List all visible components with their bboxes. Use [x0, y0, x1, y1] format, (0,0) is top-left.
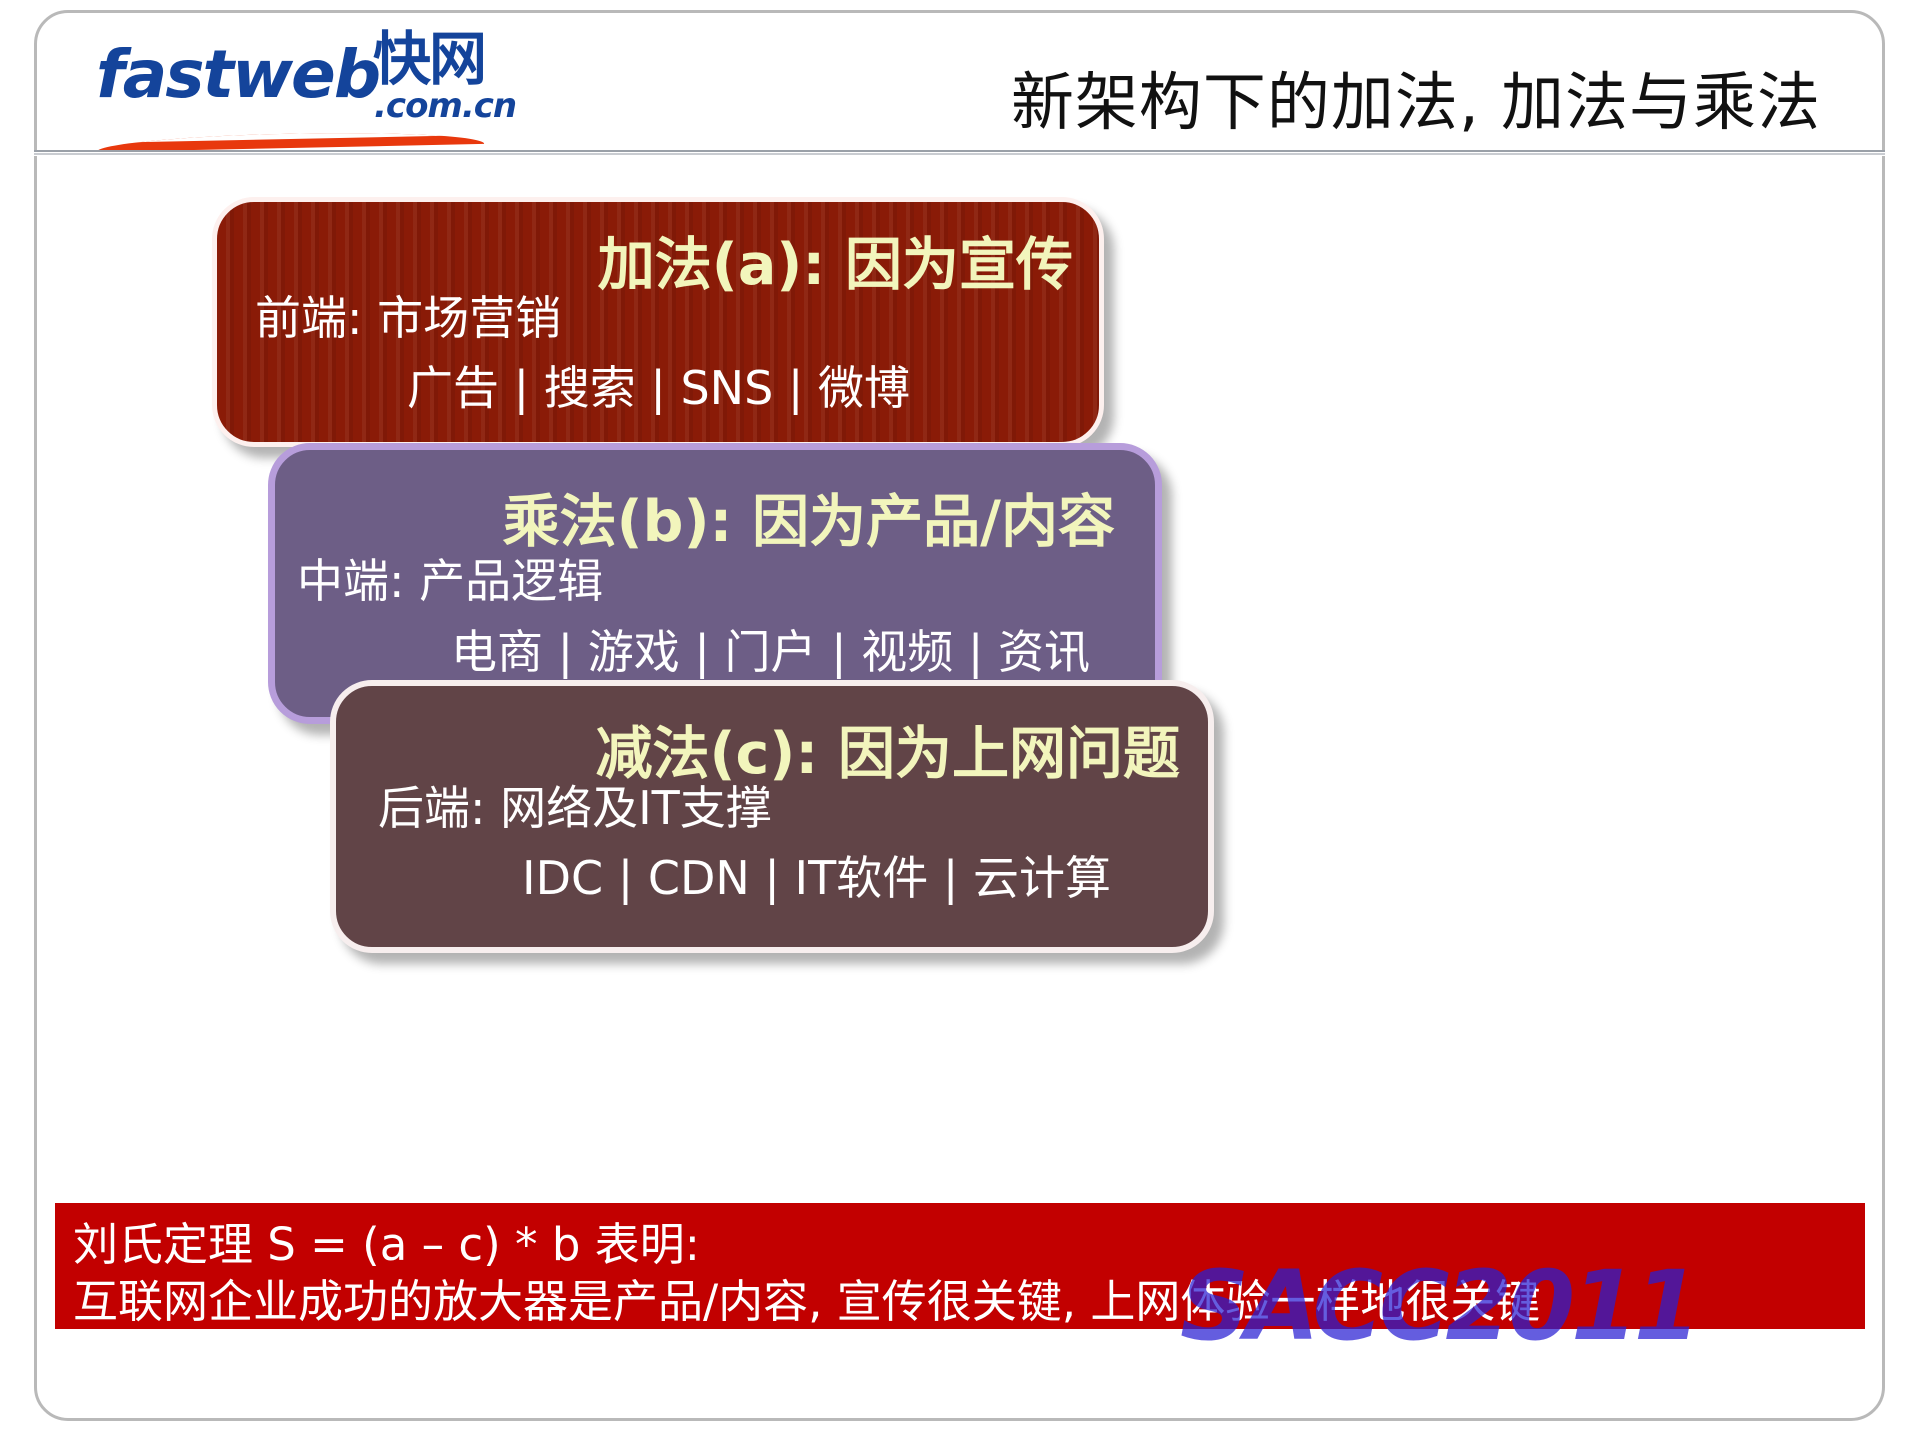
- addition-box: 加法(a): 因为宣传 前端: 市场营销 广告 | 搜索 | SNS | 微博: [212, 197, 1104, 447]
- page-title: 新架构下的加法, 加法与乘法: [1011, 52, 1821, 143]
- header-divider: [34, 150, 1885, 156]
- addition-items: 广告 | 搜索 | SNS | 微博: [407, 352, 910, 418]
- conclusion-banner: 刘氏定理 S = (a – c) * b 表明: 互联网企业成功的放大器是产品/…: [55, 1203, 1865, 1329]
- banner-line-2: 互联网企业成功的放大器是产品/内容, 宣传很关键, 上网体验一样地很关键: [73, 1265, 1540, 1329]
- logo-chinese-mark: 快网: [373, 30, 485, 88]
- slide-canvas: fastweb 快网 .com.cn 新架构下的加法, 加法与乘法 加法(a):…: [0, 0, 1919, 1439]
- subtraction-items: IDC | CDN | IT软件 | 云计算: [522, 842, 1111, 908]
- logo-domain-suffix: .com.cn: [374, 89, 516, 123]
- subtraction-subtitle: 后端: 网络及IT支撑: [378, 772, 772, 838]
- multiplication-subtitle: 中端: 产品逻辑: [297, 545, 603, 611]
- banner-line-1: 刘氏定理 S = (a – c) * b 表明:: [73, 1208, 700, 1273]
- addition-heading: 加法(a): 因为宣传: [598, 219, 1073, 301]
- fastweb-logo: fastweb 快网 .com.cn: [96, 34, 496, 146]
- logo-wordmark: fastweb: [96, 42, 379, 108]
- addition-subtitle: 前端: 市场营销: [255, 282, 561, 348]
- multiplication-items: 电商 | 游戏 | 门户 | 视频 | 资讯: [451, 616, 1090, 682]
- slide-header: fastweb 快网 .com.cn 新架构下的加法, 加法与乘法: [0, 0, 1919, 178]
- subtraction-box: 减法(c): 因为上网问题 后端: 网络及IT支撑 IDC | CDN | IT…: [330, 680, 1214, 953]
